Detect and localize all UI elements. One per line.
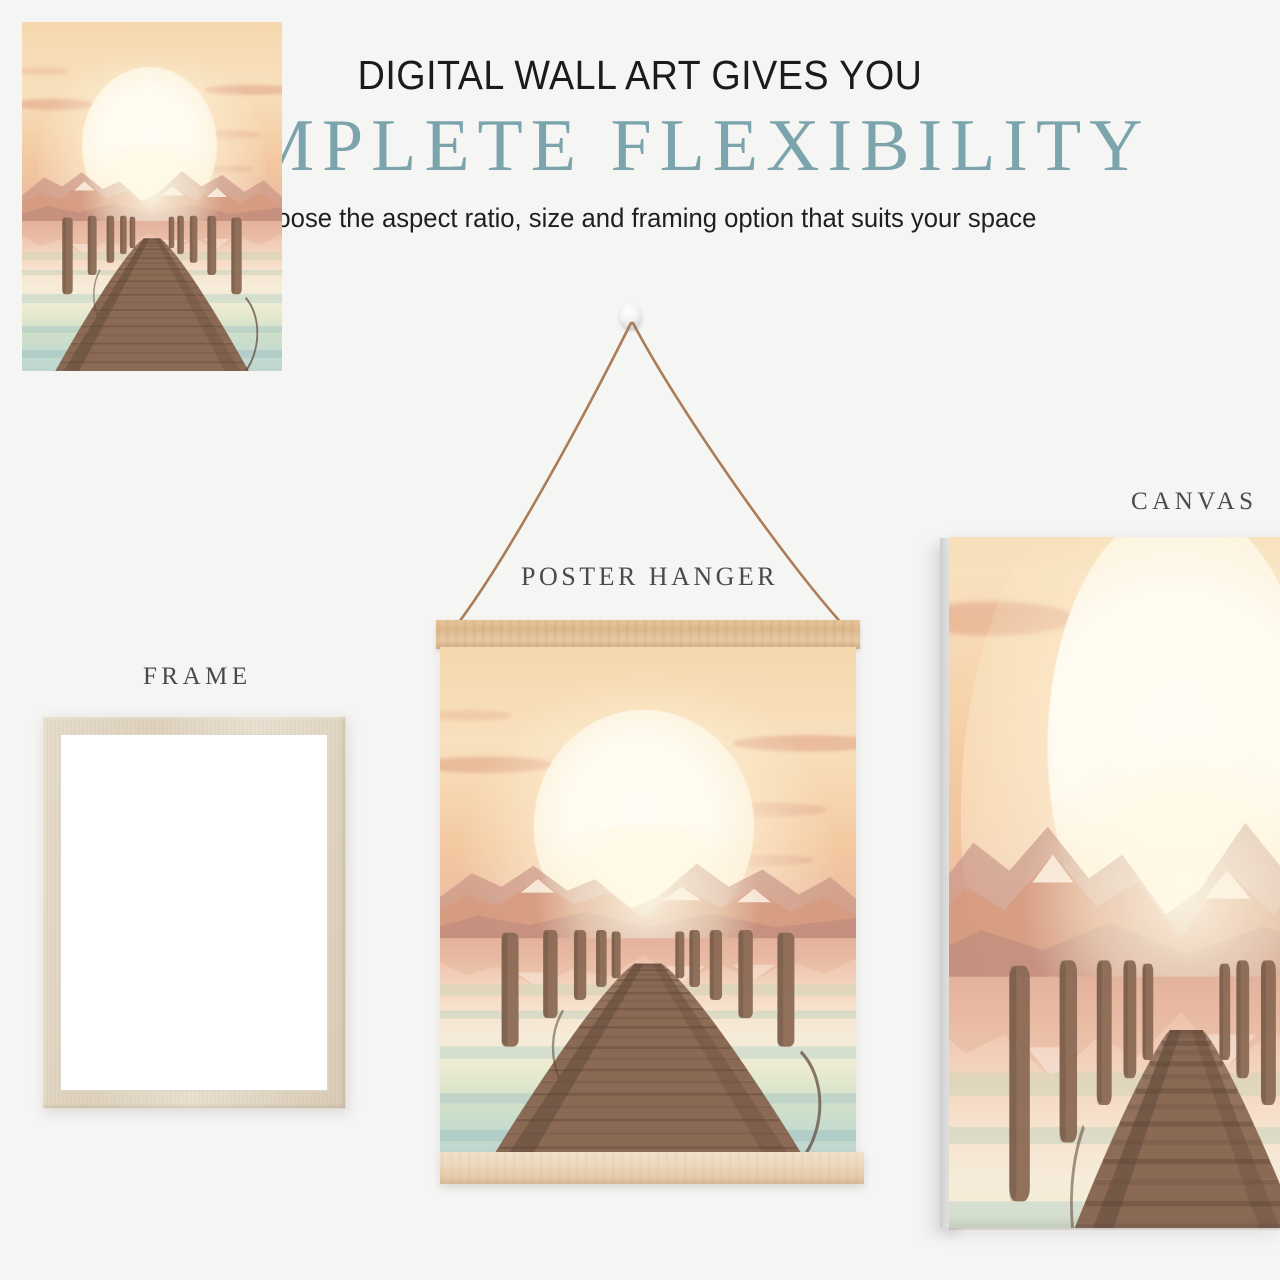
artwork-dock (440, 647, 856, 1155)
artwork-canvas (949, 537, 1280, 1228)
hanger-bar-bottom (440, 1152, 864, 1184)
label-canvas: CANVAS (1131, 488, 1258, 516)
artwork-scene (949, 537, 1280, 1228)
artwork-dock (22, 22, 282, 371)
product-frame[interactable] (42, 716, 346, 1109)
poster-mockup-page: DIGITAL WALL ART GIVES YOU COMPLETE FLEX… (0, 0, 1280, 1280)
hanger-bar-top (436, 620, 860, 649)
artwork-poster-hanger (440, 647, 856, 1155)
artwork-scene (22, 22, 282, 371)
label-frame: FRAME (143, 663, 252, 691)
artwork-frame (22, 22, 282, 371)
artwork-scene (440, 647, 856, 1155)
artwork-dock (949, 537, 1280, 1228)
hanger-cord (420, 310, 880, 640)
canvas-bottom-shade (949, 1216, 1280, 1230)
frame-mat (60, 734, 328, 1091)
